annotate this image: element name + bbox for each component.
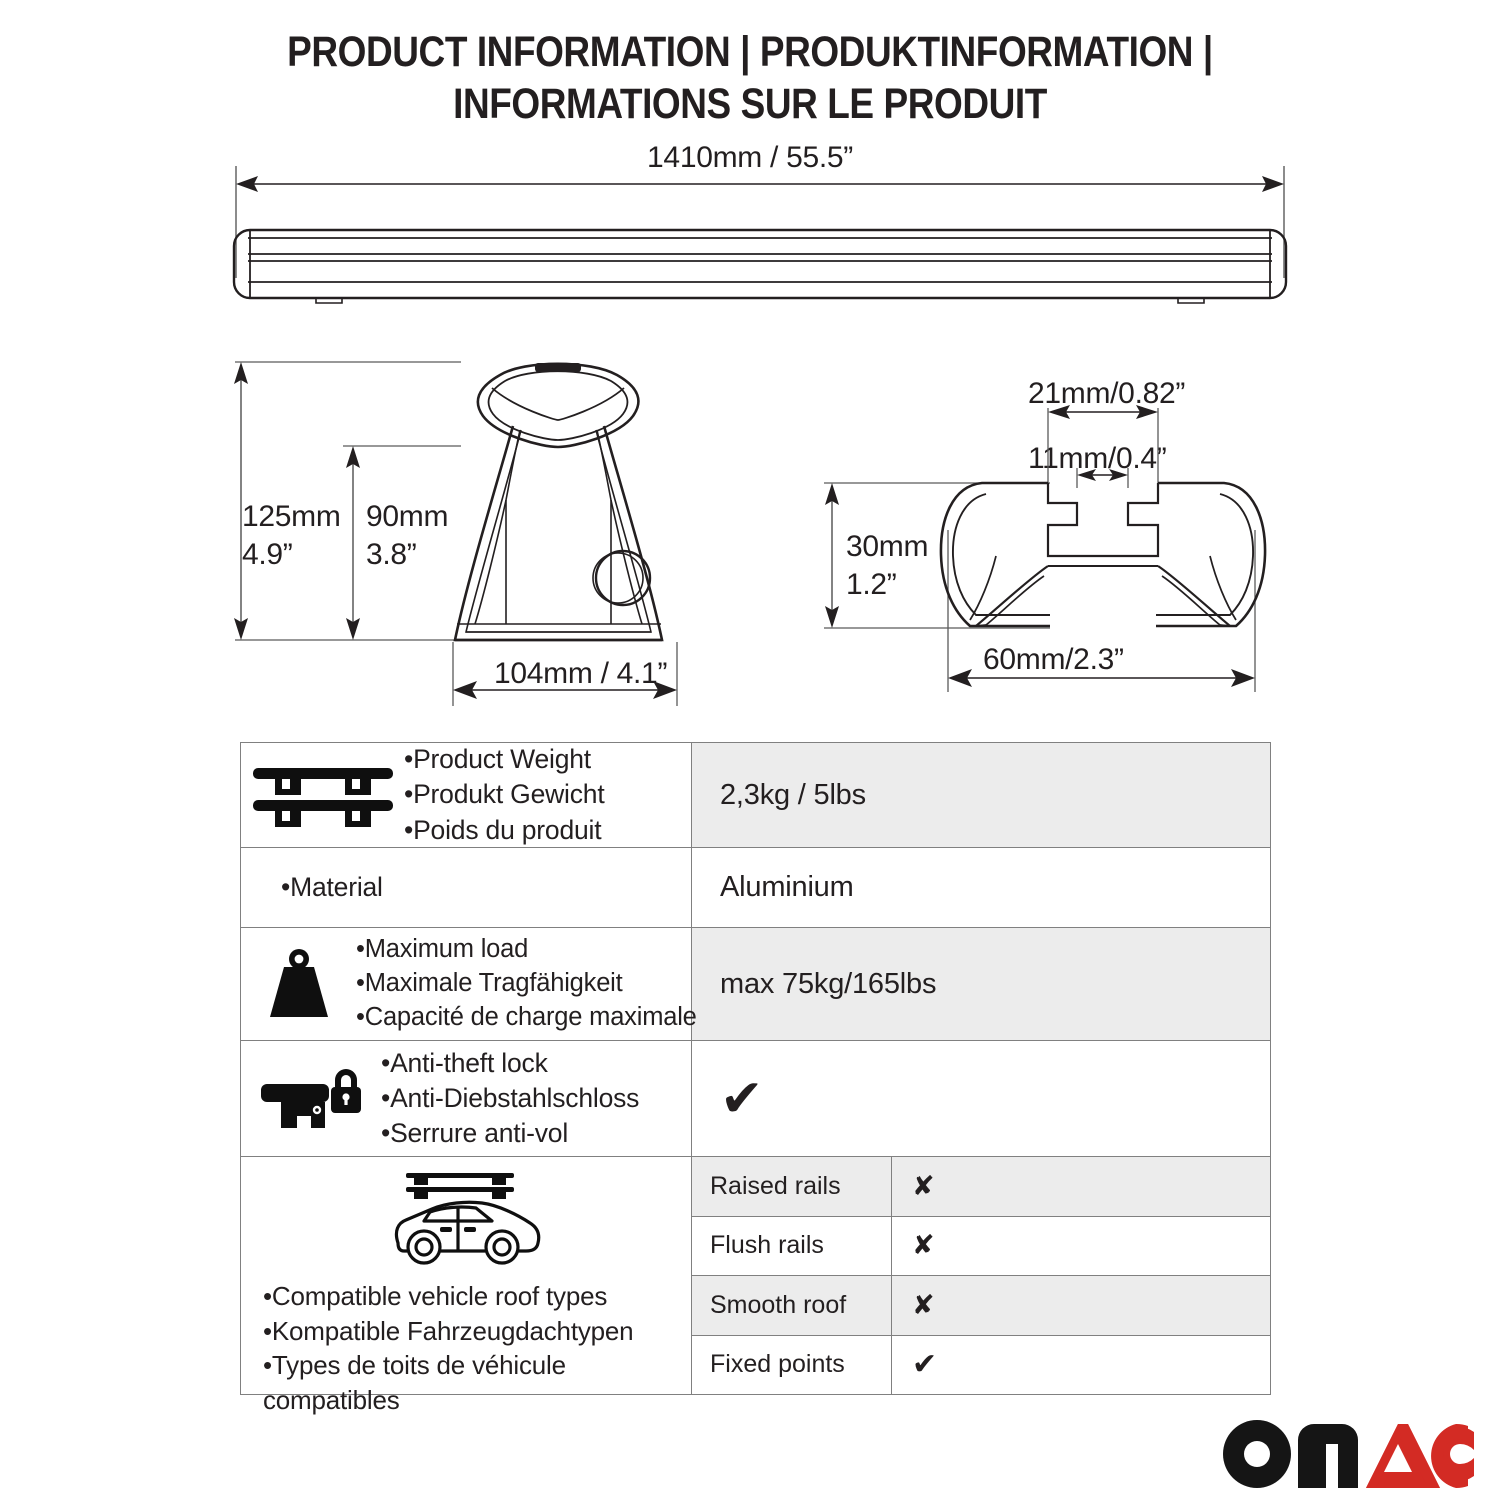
table-row: •Anti-theft lock •Anti-Diebstahlschloss … xyxy=(241,1041,1270,1157)
row-label-text: •Product Weight •Produkt Gewicht •Poids … xyxy=(404,742,605,848)
roof-bar-top-view xyxy=(220,160,1300,320)
page-title-line2: INFORMATIONS SUR LE PRODUIT xyxy=(105,78,1395,130)
row-label-cell: •Anti-theft lock •Anti-Diebstahlschloss … xyxy=(241,1041,692,1156)
roof-type-name: Flush rails xyxy=(692,1217,892,1276)
row-label-cell: •Product Weight •Produkt Gewicht •Poids … xyxy=(241,743,692,847)
roof-type-mark: ✘ xyxy=(892,1276,1270,1335)
row-value-text: 2,3kg / 5lbs xyxy=(720,779,866,812)
spec-table: •Product Weight •Produkt Gewicht •Poids … xyxy=(240,742,1271,1395)
table-row: •Product Weight •Produkt Gewicht •Poids … xyxy=(241,743,1270,848)
row-value-text: ✔ xyxy=(720,1073,763,1125)
table-row: •Compatible vehicle roof types •Kompatib… xyxy=(241,1157,1270,1394)
roof-types-label-cell: •Compatible vehicle roof types •Kompatib… xyxy=(241,1157,692,1394)
row-value-text: max 75kg/165lbs xyxy=(720,968,936,1001)
row-label-text: •Anti-theft lock •Anti-Diebstahlschloss … xyxy=(381,1046,639,1152)
weight-icon xyxy=(241,945,356,1023)
row-label-cell: •Maximum load •Maximale Tragfähigkeit •C… xyxy=(241,928,692,1040)
roof-bar-foot-front-view xyxy=(225,350,725,710)
row-label-cell: •Material xyxy=(241,848,692,927)
row-value-cell: 2,3kg / 5lbs xyxy=(692,743,1270,847)
roof-type-name: Fixed points xyxy=(692,1336,892,1395)
roof-type-row: Fixed points ✔ xyxy=(692,1336,1270,1395)
roof-type-name: Raised rails xyxy=(692,1157,892,1216)
row-value-cell: Aluminium xyxy=(692,848,1270,927)
row-value-cell: max 75kg/165lbs xyxy=(692,928,1270,1040)
roof-types-label-text: •Compatible vehicle roof types •Kompatib… xyxy=(241,1273,691,1417)
table-row: •Maximum load •Maximale Tragfähigkeit •C… xyxy=(241,928,1270,1041)
row-label-text: •Material xyxy=(281,870,383,905)
roof-type-row: Smooth roof ✘ xyxy=(692,1276,1270,1336)
page-title-line1: PRODUCT INFORMATION | PRODUKTINFORMATION… xyxy=(105,26,1395,78)
page-title: PRODUCT INFORMATION | PRODUKTINFORMATION… xyxy=(0,26,1500,131)
roof-type-mark: ✘ xyxy=(892,1157,1270,1216)
row-value-text: Aluminium xyxy=(720,871,854,904)
roof-type-row: Raised rails ✘ xyxy=(692,1157,1270,1217)
roof-type-mark: ✘ xyxy=(892,1217,1270,1276)
car-with-roof-bars-icon xyxy=(241,1157,691,1273)
omac-logo xyxy=(1222,1418,1474,1495)
roof-types-subtable: Raised rails ✘ Flush rails ✘ Smooth roof… xyxy=(692,1157,1270,1394)
two-crossbars-icon xyxy=(241,762,404,828)
row-label-text: •Maximum load •Maximale Tragfähigkeit •C… xyxy=(356,933,697,1035)
roof-type-mark: ✔ xyxy=(892,1336,1270,1395)
table-row: •Material Aluminium xyxy=(241,848,1270,928)
bar-cross-section xyxy=(800,360,1300,700)
roof-type-row: Flush rails ✘ xyxy=(692,1217,1270,1277)
row-value-cell: ✔ xyxy=(692,1041,1270,1156)
roof-type-name: Smooth roof xyxy=(692,1276,892,1335)
lock-icon xyxy=(241,1062,381,1136)
